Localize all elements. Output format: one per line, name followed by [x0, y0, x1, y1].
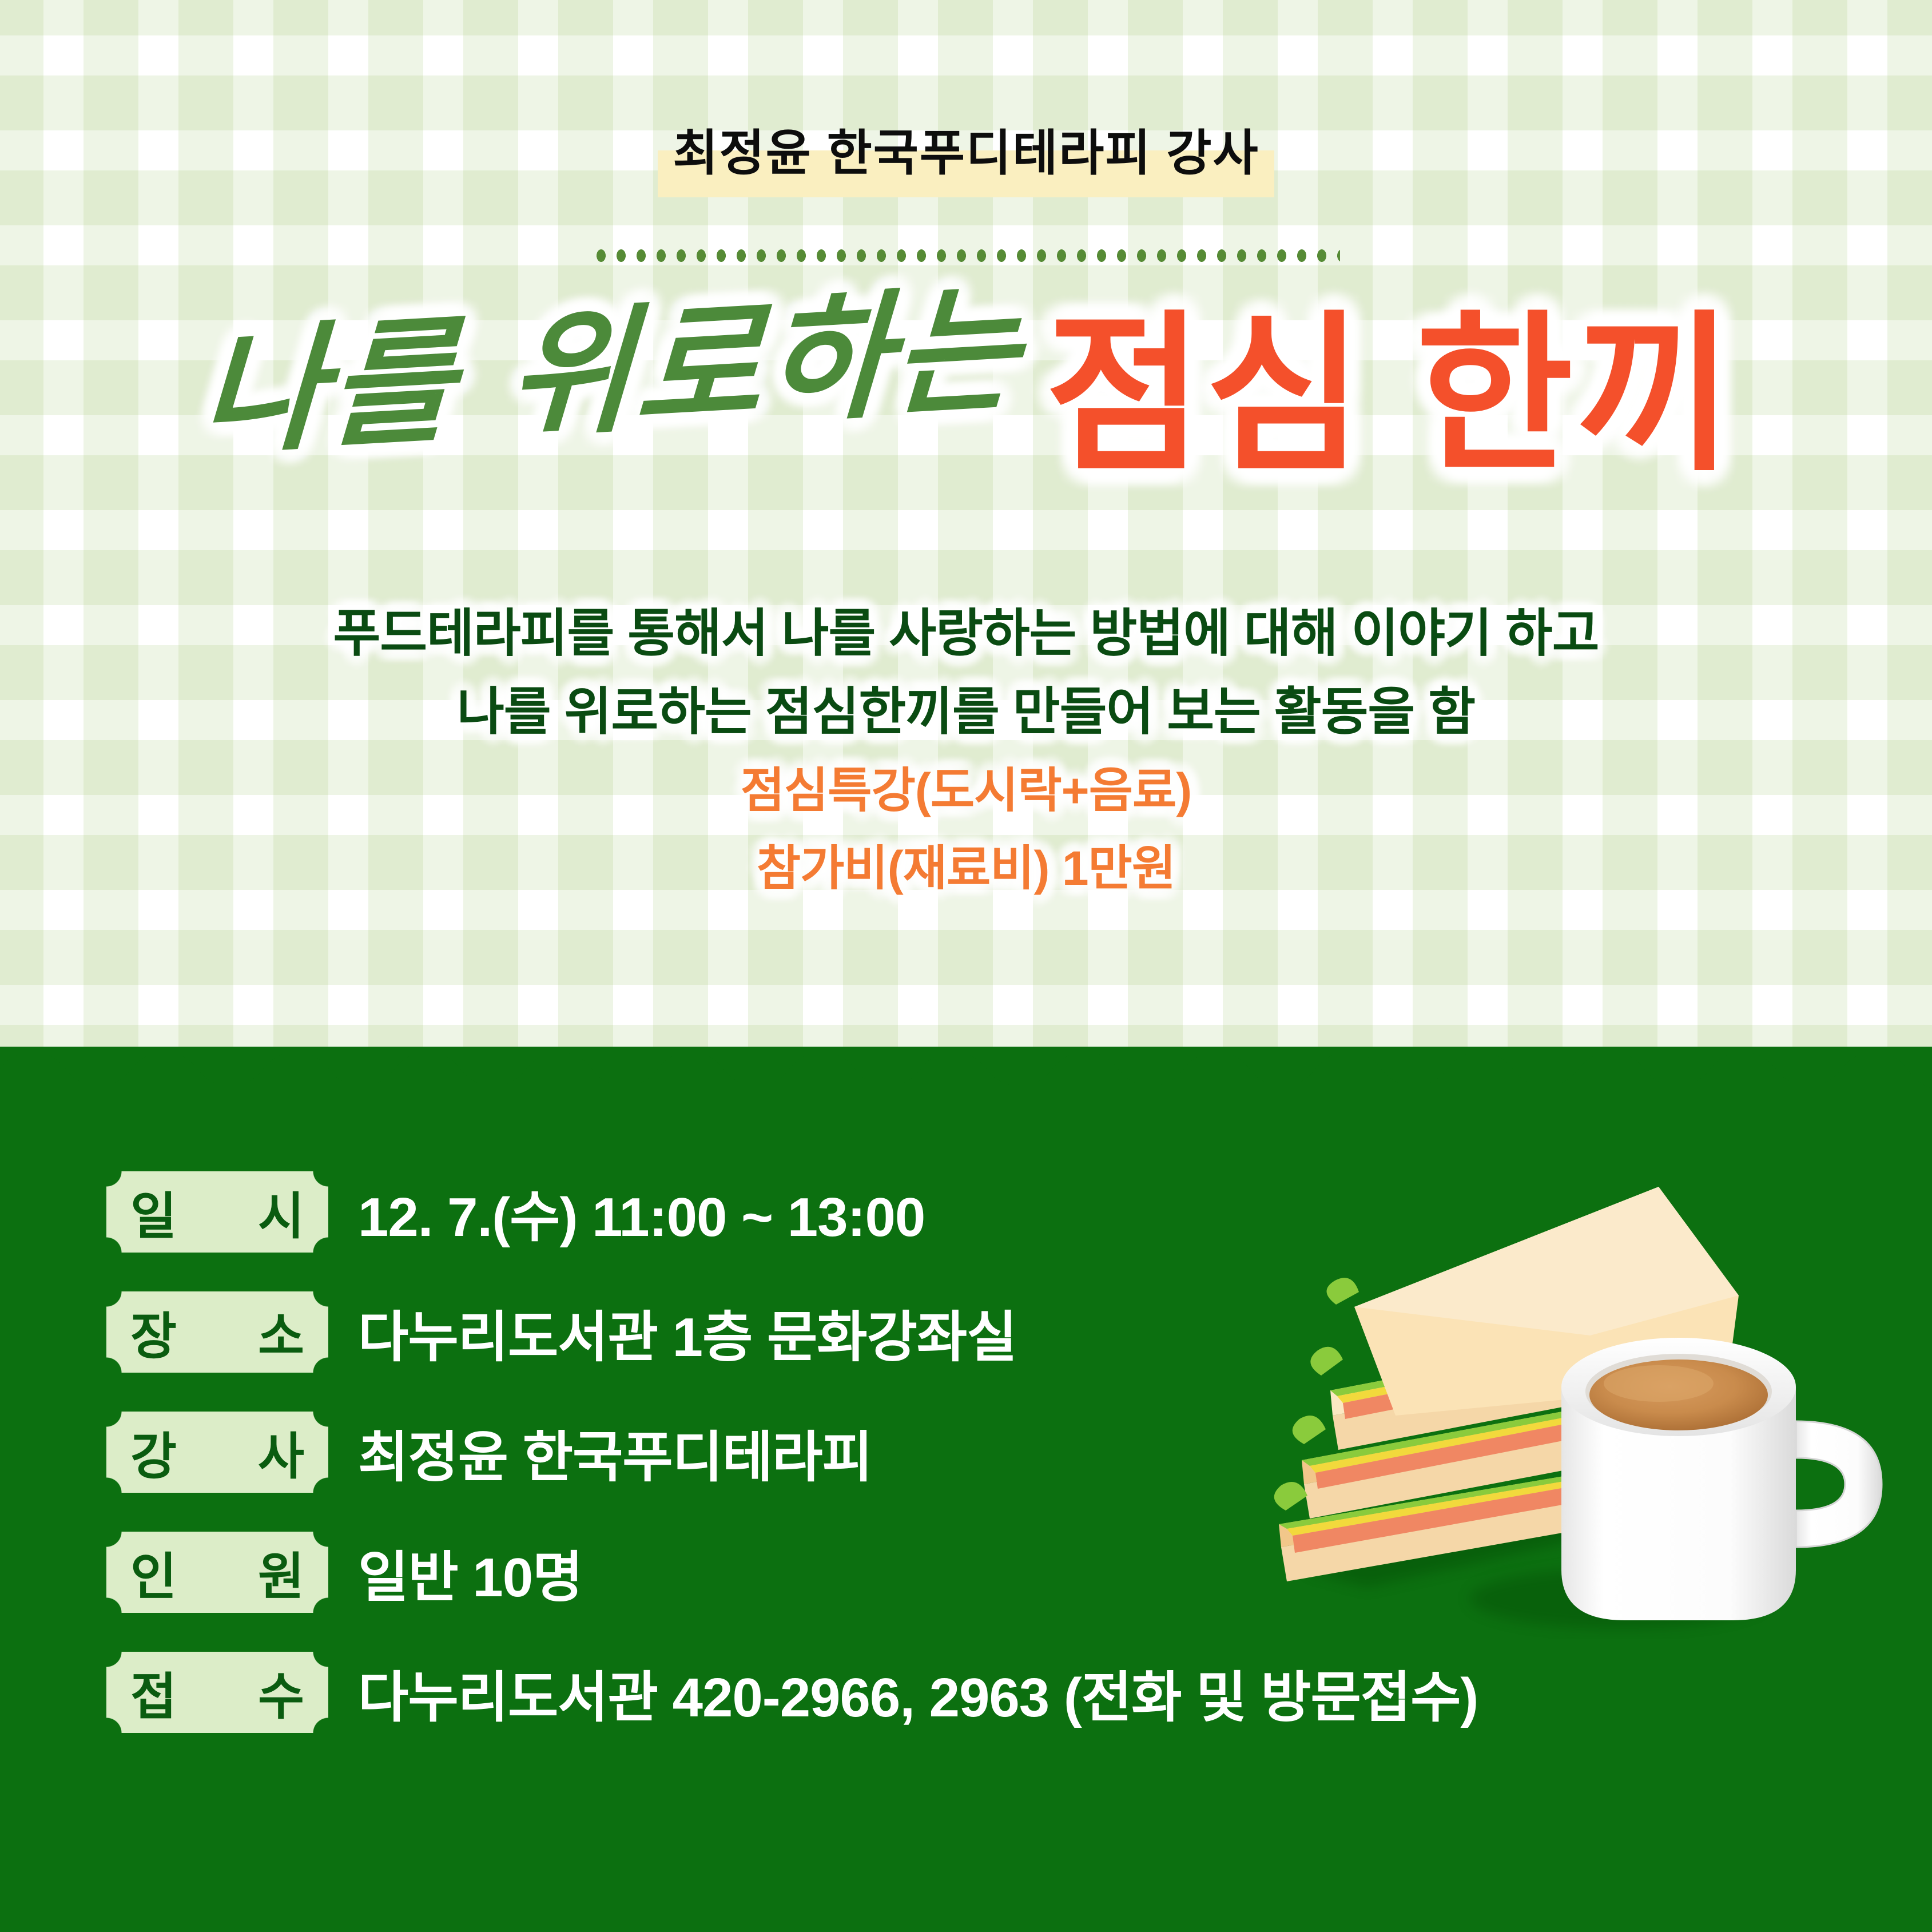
info-row-registration: 접 수 다누리도서관 420-2966, 2963 (전화 및 방문접수) — [106, 1647, 1857, 1738]
dotted-divider — [597, 249, 1340, 262]
info-label-location: 장 소 — [106, 1291, 328, 1373]
food-illustration — [1224, 1147, 1899, 1639]
info-label-char-2: 수 — [258, 1656, 304, 1729]
info-label-char-2: 시 — [258, 1176, 304, 1249]
info-label-datetime: 일 시 — [106, 1171, 328, 1253]
coffee-mug-icon — [1561, 1338, 1882, 1620]
info-label-char-2: 사 — [258, 1416, 304, 1489]
description-accent-line-2: 참가비(재료비) 1만원 — [0, 829, 1932, 907]
page-title: 나를 위로하는 점심 한끼 — [0, 309, 1932, 480]
description-accent-line-1: 점심특강(도시락+음료) — [0, 752, 1932, 829]
info-label-capacity: 인 원 — [106, 1532, 328, 1613]
info-value-capacity: 일반 10명 — [358, 1533, 582, 1612]
info-label-instructor: 강 사 — [106, 1412, 328, 1493]
header: 최정윤 한국푸디테라피 강사 — [0, 123, 1932, 185]
info-value-datetime: 12. 7.(수) 11:00 ~ 13:00 — [358, 1172, 925, 1252]
info-label-registration: 접 수 — [106, 1652, 328, 1733]
title-script-part: 나를 위로하는 — [196, 281, 1025, 480]
description-line-1: 푸드테라피를 통해서 나를 사랑하는 방법에 대해 이야기 하고 — [0, 595, 1932, 673]
info-label-char-1: 일 — [130, 1176, 177, 1249]
info-label-char-1: 장 — [130, 1296, 177, 1369]
info-label-char-2: 소 — [258, 1296, 304, 1369]
poster-canvas: 최정윤 한국푸디테라피 강사 나를 위로하는 점심 한끼 푸드테라피를 통해서 … — [0, 0, 1932, 1932]
info-value-location: 다누리도서관 1층 문화강좌실 — [358, 1293, 1017, 1372]
info-value-instructor: 최정윤 한국푸디테라피 — [358, 1413, 872, 1492]
title-bold-part: 점심 한끼 — [1045, 309, 1736, 480]
info-value-registration: 다누리도서관 420-2966, 2963 (전화 및 방문접수) — [358, 1653, 1478, 1732]
description-block: 푸드테라피를 통해서 나를 사랑하는 방법에 대해 이야기 하고 나를 위로하는… — [0, 595, 1932, 907]
info-label-char-1: 인 — [130, 1536, 177, 1609]
info-label-char-1: 강 — [130, 1416, 177, 1489]
info-label-char-1: 접 — [130, 1656, 177, 1729]
info-label-char-2: 원 — [258, 1536, 304, 1609]
description-line-2: 나를 위로하는 점심한끼를 만들어 보는 활동을 함 — [0, 673, 1932, 752]
instructor-line: 최정윤 한국푸디테라피 강사 — [673, 123, 1259, 185]
wave-divider-icon — [0, 1046, 1932, 1092]
